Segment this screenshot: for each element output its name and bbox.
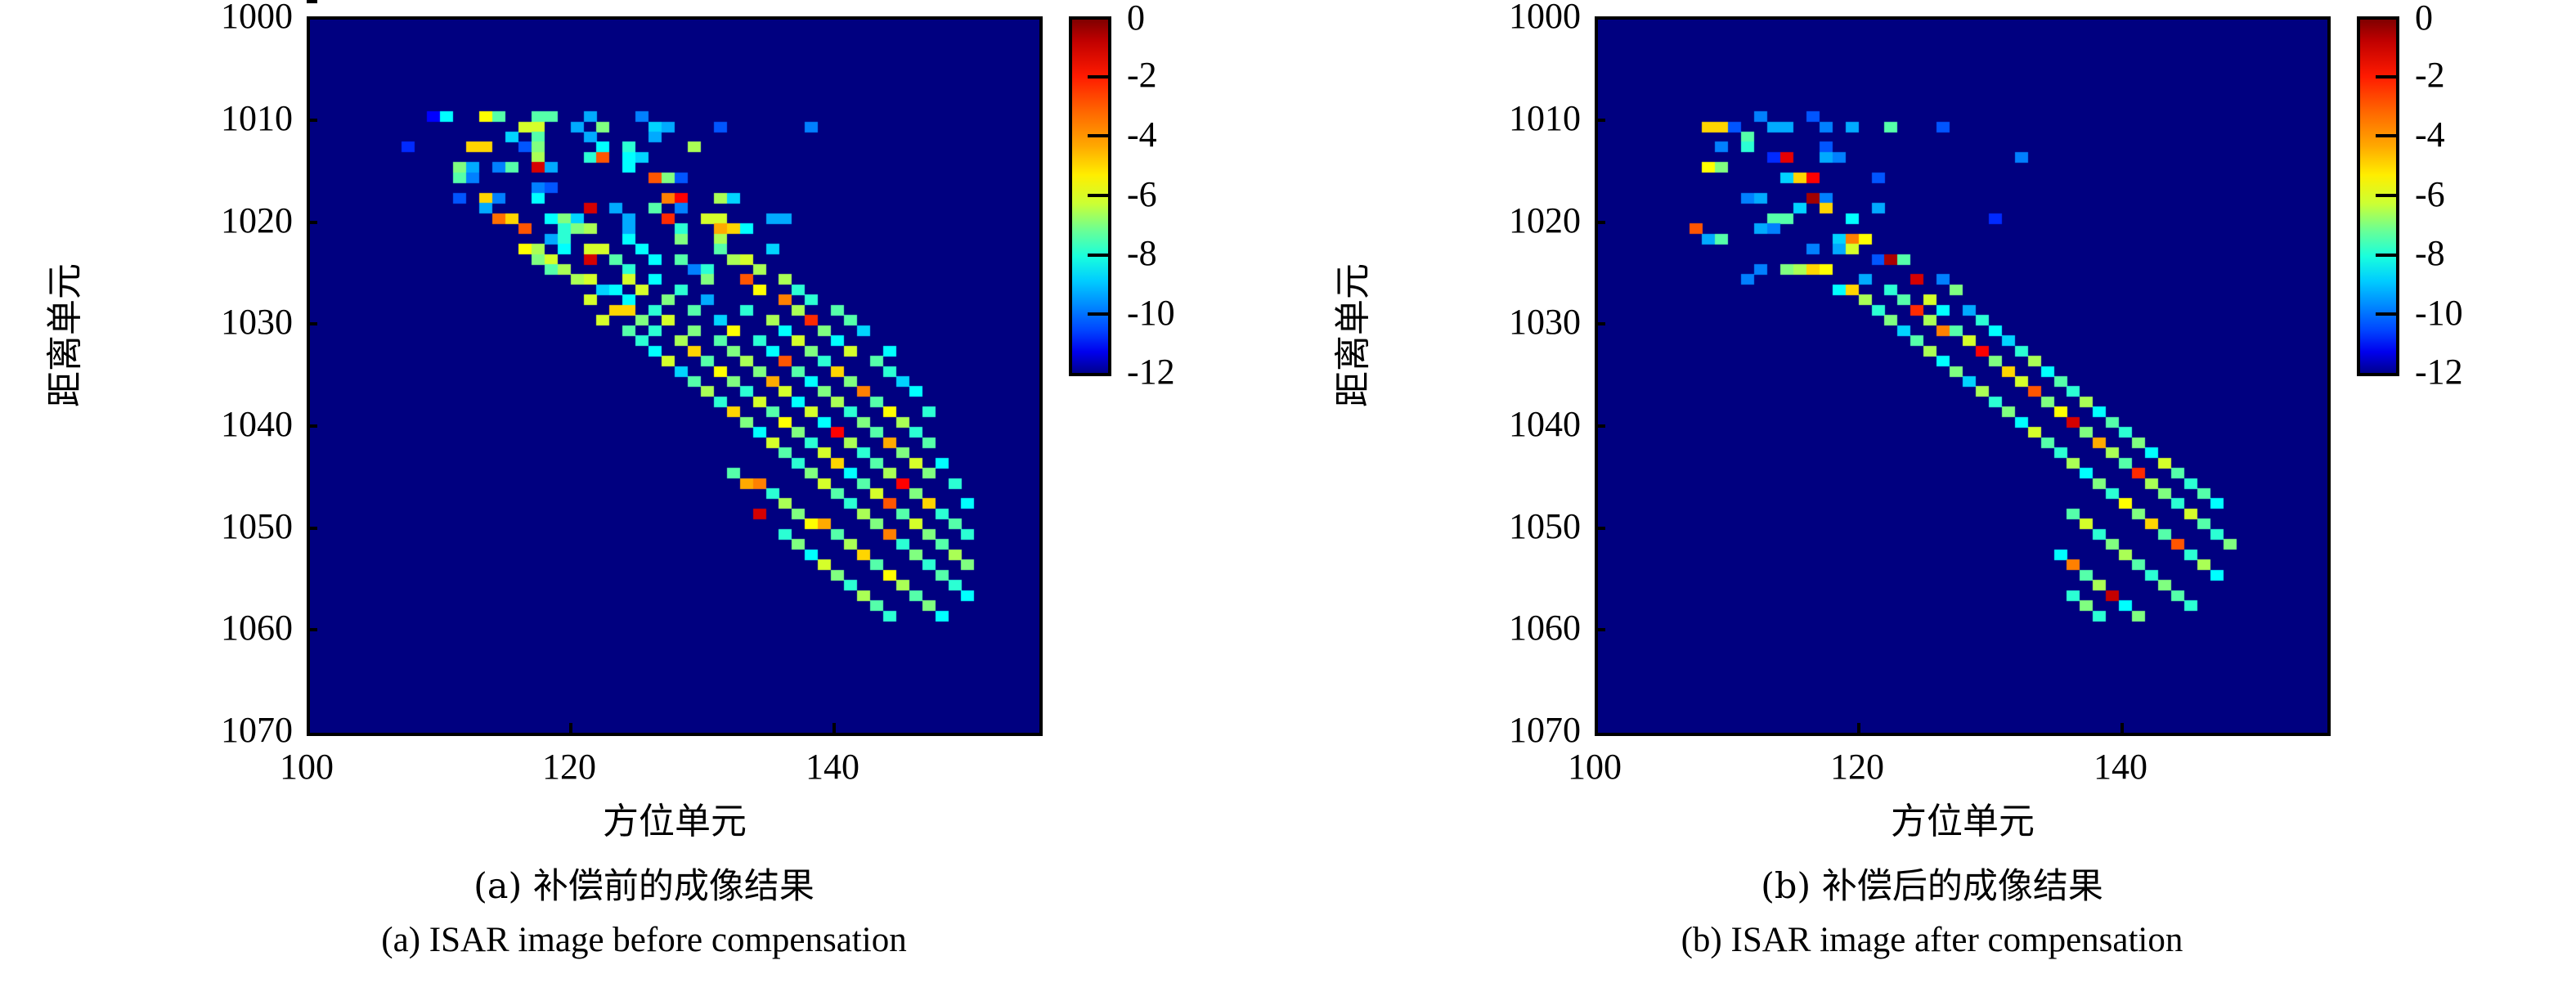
heatmap-plot-a	[307, 16, 1043, 736]
colorbar-label--12: -12	[1127, 354, 1175, 390]
x-tick-mark-120	[569, 723, 572, 734]
panel-a: 1000 1010 1020 1030 1040 1050 1060 1070 …	[0, 0, 1288, 983]
x-tick-mark-100	[1595, 723, 1598, 734]
x-tick-label-100: 100	[217, 749, 397, 785]
colorbar-label--10: -10	[2415, 295, 2463, 331]
y-tick-mark-1010	[1595, 119, 1605, 122]
colorbar-label--2: -2	[2415, 57, 2445, 93]
x-axis-label: 方位单元	[1595, 801, 2331, 842]
colorbar-label--10: -10	[1127, 295, 1175, 331]
y-tick-label-1060: 1060	[105, 610, 293, 646]
y-tick-label-1060: 1060	[1393, 610, 1581, 646]
y-tick-mark-1060	[307, 628, 317, 631]
y-tick-mark-1040	[1595, 424, 1605, 428]
y-tick-label-1040: 1040	[1393, 406, 1581, 442]
colorbar-tick--6	[2376, 194, 2396, 197]
x-tick-mark-140	[2120, 723, 2124, 734]
colorbar-label--8: -8	[2415, 236, 2445, 272]
colorbar-label--2: -2	[1127, 57, 1157, 93]
x-tick-mark-140	[832, 723, 836, 734]
x-axis-label: 方位单元	[307, 801, 1043, 842]
colorbar-tick--2	[1088, 75, 1108, 79]
y-tick-label-1040: 1040	[105, 406, 293, 442]
y-tick-mark-1000	[1595, 16, 1605, 20]
heatmap-canvas-b	[1598, 20, 2327, 733]
colorbar-tick--6	[1088, 194, 1108, 197]
colorbar-tick--4	[1088, 134, 1108, 137]
y-tick-mark-1030	[1595, 322, 1605, 325]
colorbar-tick--2	[2376, 75, 2396, 79]
y-axis-label: 距离单元	[1333, 172, 1374, 499]
heatmap-canvas-a	[310, 20, 1039, 733]
colorbar-tick--4	[2376, 134, 2396, 137]
y-tick-label-1050: 1050	[105, 509, 293, 545]
y-tick-mark	[307, 0, 317, 3]
y-tick-mark-1050	[307, 527, 317, 530]
y-tick-label-1050: 1050	[1393, 509, 1581, 545]
y-tick-label-1000: 1000	[105, 0, 293, 34]
y-tick-label-1030: 1030	[105, 304, 293, 340]
colorbar-tick--10	[1088, 312, 1108, 316]
colorbar-tick--10	[2376, 312, 2396, 316]
x-tick-label-140: 140	[2031, 749, 2210, 785]
y-tick-label-1070: 1070	[105, 712, 293, 748]
y-tick-label-1070: 1070	[1393, 712, 1581, 748]
colorbar-tick--8	[2376, 254, 2396, 257]
colorbar-label--8: -8	[1127, 236, 1157, 272]
y-tick-mark-1050	[1595, 527, 1605, 530]
heatmap-plot-b	[1595, 16, 2331, 736]
y-tick-label-1010: 1010	[1393, 101, 1581, 137]
x-tick-mark-120	[1857, 723, 1860, 734]
colorbar-label--6: -6	[2415, 177, 2445, 213]
caption-b-chinese: (b) 补偿后的成像结果	[1288, 867, 2576, 906]
y-tick-mark-1010	[307, 119, 317, 122]
isar-figure: 1000 1010 1020 1030 1040 1050 1060 1070 …	[0, 0, 2576, 983]
y-tick-label-1010: 1010	[105, 101, 293, 137]
colorbar-label-0: 0	[2415, 0, 2433, 36]
caption-b-english: (b) ISAR image after compensation	[1288, 921, 2576, 960]
panel-b: 1000 1010 1020 1030 1040 1050 1060 1070 …	[1288, 0, 2576, 983]
colorbar-label-0: 0	[1127, 0, 1145, 36]
colorbar-tick--8	[1088, 254, 1108, 257]
y-tick-mark-1030	[307, 322, 317, 325]
y-tick-label-1020: 1020	[1393, 203, 1581, 239]
colorbar-label--4: -4	[1127, 117, 1157, 153]
y-tick-mark-1020	[307, 221, 317, 224]
y-tick-label-1000: 1000	[1393, 0, 1581, 34]
y-tick-label-1030: 1030	[1393, 304, 1581, 340]
x-tick-label-120: 120	[1767, 749, 1947, 785]
y-tick-mark-1020	[1595, 221, 1605, 224]
caption-a-chinese: (a) 补偿前的成像结果	[0, 867, 1288, 906]
y-tick-label-1020: 1020	[105, 203, 293, 239]
x-tick-label-120: 120	[479, 749, 659, 785]
x-tick-label-140: 140	[743, 749, 922, 785]
colorbar-label--6: -6	[1127, 177, 1157, 213]
colorbar-label--4: -4	[2415, 117, 2445, 153]
y-axis-label: 距离单元	[45, 172, 86, 499]
y-tick-mark-1040	[307, 424, 317, 428]
caption-a-english: (a) ISAR image before compensation	[0, 921, 1288, 960]
y-tick-mark-1060	[1595, 628, 1605, 631]
x-tick-mark-100	[307, 723, 310, 734]
y-tick-mark	[307, 16, 317, 20]
colorbar-label--12: -12	[2415, 354, 2463, 390]
x-tick-label-100: 100	[1505, 749, 1685, 785]
